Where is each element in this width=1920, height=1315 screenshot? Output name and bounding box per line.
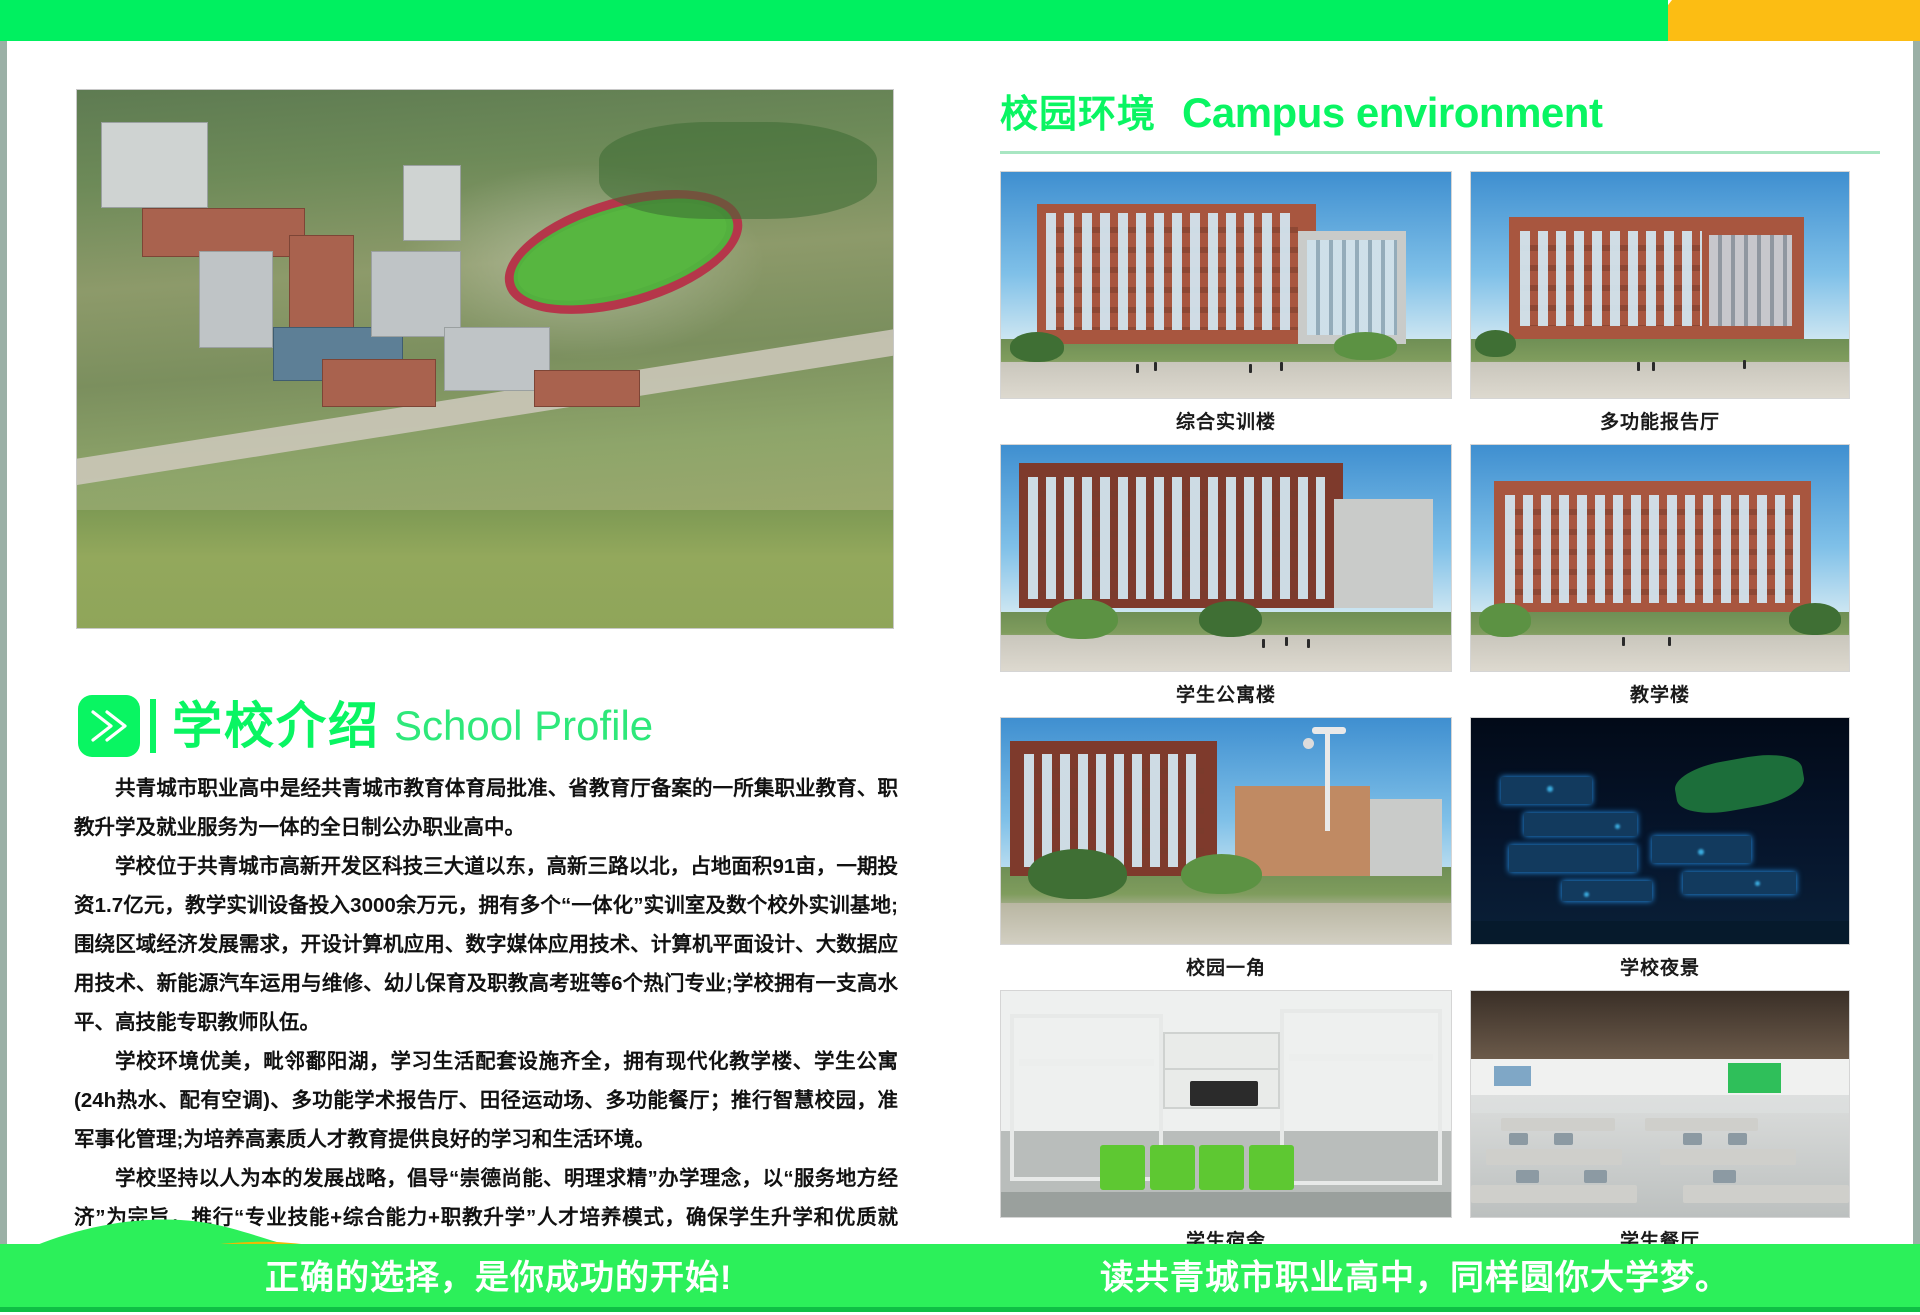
building <box>101 122 207 208</box>
campus-aerial-photo <box>76 89 894 629</box>
photo-caption: 学生公寓楼 <box>1000 680 1452 707</box>
photo-cell: 综合实训楼 <box>1000 171 1452 434</box>
photo-campus-night-view <box>1470 717 1850 945</box>
photo-cell: 多功能报告厅 <box>1470 171 1850 434</box>
building <box>322 359 436 407</box>
heading-divider <box>150 699 156 753</box>
footer-slogan-left: 正确的选择，是你成功的开始! <box>265 1250 732 1299</box>
photo-caption: 学校夜景 <box>1470 953 1850 980</box>
left-page: 学校介绍 School Profile 共青城市职业高中是经共青城市教育体育局批… <box>0 41 960 1184</box>
photo-caption: 教学楼 <box>1470 680 1850 707</box>
farm-field <box>77 510 893 628</box>
building <box>371 251 461 337</box>
building <box>403 165 460 240</box>
campus-photo-grid: 综合实训楼 多功能报告厅 <box>1000 171 1884 1263</box>
campus-environment-heading: 校园环境 Campus environment <box>1000 83 1602 138</box>
profile-title-cn: 学校介绍 <box>172 701 380 751</box>
left-page-border <box>0 41 7 1312</box>
profile-title-en: School Profile <box>394 705 653 747</box>
top-yellow-accent-bar <box>1640 0 1920 41</box>
profile-paragraph: 共青城市职业高中是经共青城市教育体育局批准、省教育厅备案的一所集职业教育、职教升… <box>74 769 898 847</box>
building <box>534 370 640 408</box>
profile-paragraph: 学校位于共青城市高新开发区科技三大道以东，高新三路以北，占地面积91亩，一期投资… <box>74 847 898 1042</box>
building <box>142 208 305 256</box>
photo-caption: 校园一角 <box>1000 953 1452 980</box>
double-chevron-icon <box>78 695 140 757</box>
bottom-banner: 正确的选择，是你成功的开始! 读共青城市职业高中，同样圆你大学梦。 <box>0 1184 1920 1312</box>
photo-teaching-building <box>1470 444 1850 672</box>
photo-cell: 教学楼 <box>1470 444 1850 707</box>
photo-caption: 综合实训楼 <box>1000 407 1452 434</box>
building <box>199 251 272 348</box>
footer-slogan-right: 读共青城市职业高中，同样圆你大学梦。 <box>1100 1250 1730 1299</box>
photo-cell: 校园一角 <box>1000 717 1452 980</box>
photo-cell: 学生公寓楼 <box>1000 444 1452 707</box>
right-page: 校园环境 Campus environment 综合实训楼 <box>960 41 1920 1184</box>
photo-caption: 多功能报告厅 <box>1470 407 1850 434</box>
right-page-border <box>1913 41 1920 1312</box>
top-green-bar <box>0 0 1668 41</box>
school-profile-heading: 学校介绍 School Profile <box>78 691 653 761</box>
photo-student-apartment <box>1000 444 1452 672</box>
profile-paragraph: 学校环境优美，毗邻鄱阳湖，学习生活配套设施齐全，拥有现代化教学楼、学生公寓(24… <box>74 1042 898 1159</box>
tree-cluster <box>599 122 876 219</box>
photo-training-building <box>1000 171 1452 399</box>
photo-lecture-hall <box>1470 171 1850 399</box>
banner-bottom-line <box>0 1307 1920 1312</box>
photo-cell: 学校夜景 <box>1470 717 1850 980</box>
campus-heading-rule <box>1000 151 1880 154</box>
campus-title-cn: 校园环境 <box>1000 83 1156 138</box>
campus-title-en: Campus environment <box>1182 89 1602 137</box>
photo-campus-corner <box>1000 717 1452 945</box>
